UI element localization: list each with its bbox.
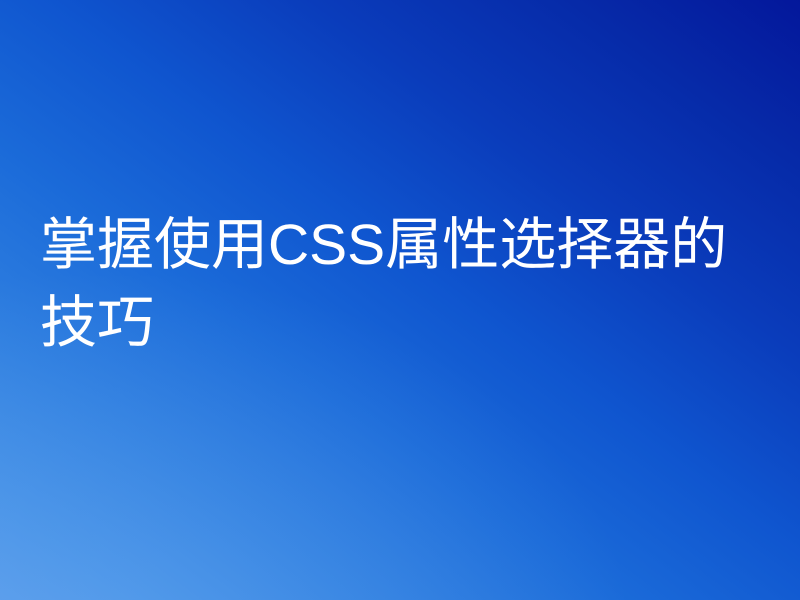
title-card-banner: 掌握使用CSS属性选择器的技巧 (0, 0, 800, 600)
page-title: 掌握使用CSS属性选择器的技巧 (40, 206, 764, 362)
title-block: 掌握使用CSS属性选择器的技巧 (40, 206, 764, 362)
banner-content: 掌握使用CSS属性选择器的技巧 (0, 0, 800, 600)
